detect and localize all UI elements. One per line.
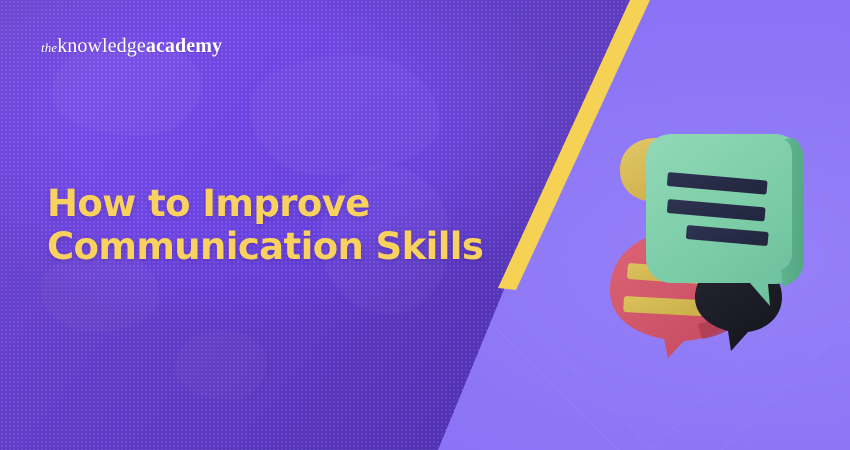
promo-banner: theknowledgeacademy How to Improve Commu… xyxy=(0,0,850,450)
world-map-blob xyxy=(250,55,440,175)
logo-word-the: the xyxy=(41,40,57,55)
speech-bubbles-illustration xyxy=(598,120,838,340)
green-bubble xyxy=(646,134,804,306)
world-map-blob xyxy=(175,330,267,400)
brand-logo[interactable]: theknowledgeacademy xyxy=(41,36,222,56)
logo-word-academy: academy xyxy=(146,35,222,57)
page-title: How to Improve Communication Skills xyxy=(47,183,483,269)
logo-word-knowledge: knowledge xyxy=(57,35,146,57)
